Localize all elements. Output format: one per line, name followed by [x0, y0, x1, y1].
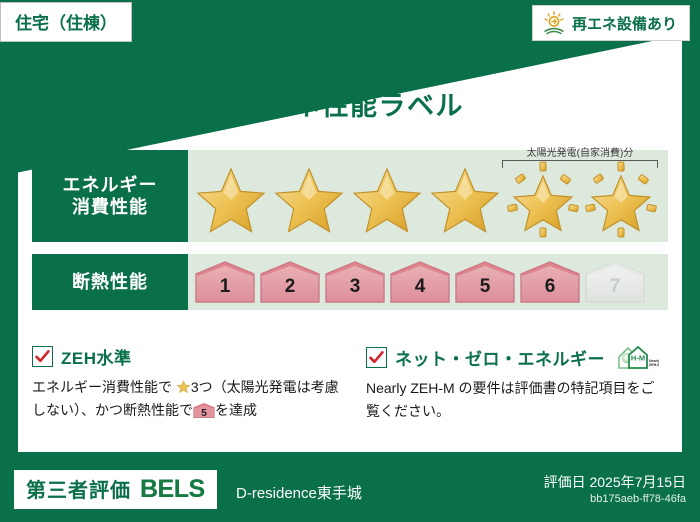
insulation-level-1: 1: [194, 260, 256, 304]
solar-annotation: 太陽光発電(自家消費)分: [496, 148, 664, 168]
insulation-level-6-number: 6: [519, 276, 581, 298]
zeh-heading: ZEH水準: [61, 344, 132, 369]
zeh-heading-row: ZEH水準: [32, 344, 352, 369]
solar-sun-icon: [541, 10, 567, 36]
footer-bar: 第三者評価 BELS D-residence東手城 評価日 2025年7月15日…: [0, 460, 700, 522]
bels-logo-text: BELS: [140, 475, 205, 504]
insulation-row-body: 1 2 3: [188, 254, 668, 310]
insulation-level-4-number: 4: [389, 276, 451, 298]
bels-certification-chip: 第三者評価 BELS: [14, 470, 217, 509]
zeh-body: エネルギー消費性能で 3つ（太陽光発電は考慮しない）、かつ断熱性能で 5 を達成: [32, 376, 352, 422]
star-5-solar: [504, 160, 582, 238]
energy-row-body: 太陽光発電(自家消費)分: [188, 150, 668, 242]
star-6-solar: [582, 160, 660, 238]
evaluation-date: 評価日 2025年7月15日: [544, 472, 686, 492]
nearly-zeh-m-logo-icon: H-M Nearly ZEH-M: [615, 344, 659, 370]
insulation-performance-row: 断熱性能: [32, 254, 668, 310]
evaluation-id: bb175aeb-ff78-46fa: [590, 493, 686, 505]
star-2: [270, 160, 348, 238]
insulation-level-4: 4: [389, 260, 451, 304]
category-tag-label: 住宅（住棟）: [15, 14, 117, 33]
insulation-level-6: 6: [519, 260, 581, 304]
category-tag: 住宅（住棟）: [0, 2, 132, 42]
zeh-check-icon: [32, 346, 53, 367]
info-blocks: ZEH水準 エネルギー消費性能で 3つ（太陽光発電は考慮しない）、かつ断熱性能で…: [32, 344, 668, 423]
solar-annotation-label: 太陽光発電(自家消費)分: [496, 148, 664, 159]
nze-body: Nearly ZEH-M の要件は評価書の特記項目をご覧ください。: [366, 377, 668, 423]
label-panel-content: 建築物省エネ法に基づく 省エネ性能ラベル エネルギー 消費性能: [18, 22, 682, 452]
insulation-level-2: 2: [259, 260, 321, 304]
inline-star-icon: [176, 378, 191, 393]
renewable-energy-badge: 再エネ設備あり: [532, 5, 690, 41]
energy-row-label-line2: 消費性能: [72, 196, 148, 219]
nze-check-icon: [366, 347, 387, 368]
zeh-body-star-count: 3つ（太陽光発電: [191, 379, 297, 395]
svg-text:H-M: H-M: [631, 354, 645, 363]
inline-insulation-badge-icon: 5: [193, 402, 215, 419]
insulation-row-label-text: 断熱性能: [72, 271, 148, 294]
insulation-level-3-number: 3: [324, 276, 386, 298]
energy-performance-row: エネルギー 消費性能: [32, 150, 668, 242]
page-title: 省エネ性能ラベル: [18, 84, 682, 123]
title-subtitle: 建築物省エネ法に基づく: [18, 60, 682, 80]
insulation-level-7-number: 7: [584, 276, 646, 298]
insulation-level-7: 7: [584, 260, 646, 304]
inline-insulation-badge-number: 5: [193, 406, 215, 423]
zeh-info-block: ZEH水準 エネルギー消費性能で 3つ（太陽光発電は考慮しない）、かつ断熱性能で…: [32, 344, 352, 423]
star-4: [426, 160, 504, 238]
insulation-row-label: 断熱性能: [32, 254, 188, 310]
star-3: [348, 160, 426, 238]
zeh-body-pre: エネルギー消費性能で: [32, 379, 172, 395]
star-rating: [188, 160, 660, 238]
star-1: [192, 160, 270, 238]
insulation-level-5: 5: [454, 260, 516, 304]
svg-text:ZEH-M: ZEH-M: [649, 363, 659, 367]
zeh-body-post: を達成: [215, 402, 257, 418]
energy-row-label: エネルギー 消費性能: [32, 150, 188, 242]
page-title-block: 建築物省エネ法に基づく 省エネ性能ラベル: [18, 60, 682, 123]
nze-info-block: ネット・ゼロ・エネルギー H-M: [366, 344, 668, 423]
energy-row-label-line1: エネルギー: [63, 174, 158, 197]
insulation-level-3: 3: [324, 260, 386, 304]
third-party-label: 第三者評価: [26, 474, 131, 503]
nze-heading-row: ネット・ゼロ・エネルギー H-M: [366, 344, 668, 370]
building-name: D-residence東手城: [236, 482, 362, 503]
performance-rows: エネルギー 消費性能: [32, 150, 668, 322]
nze-heading: ネット・ゼロ・エネルギー: [395, 345, 605, 370]
solar-annotation-bracket: [502, 160, 658, 168]
renewable-badge-label: 再エネ設備あり: [572, 13, 677, 34]
insulation-level-1-number: 1: [194, 276, 256, 298]
insulation-level-5-number: 5: [454, 276, 516, 298]
insulation-level-badges: 1 2 3: [188, 260, 646, 304]
insulation-level-2-number: 2: [259, 276, 321, 298]
